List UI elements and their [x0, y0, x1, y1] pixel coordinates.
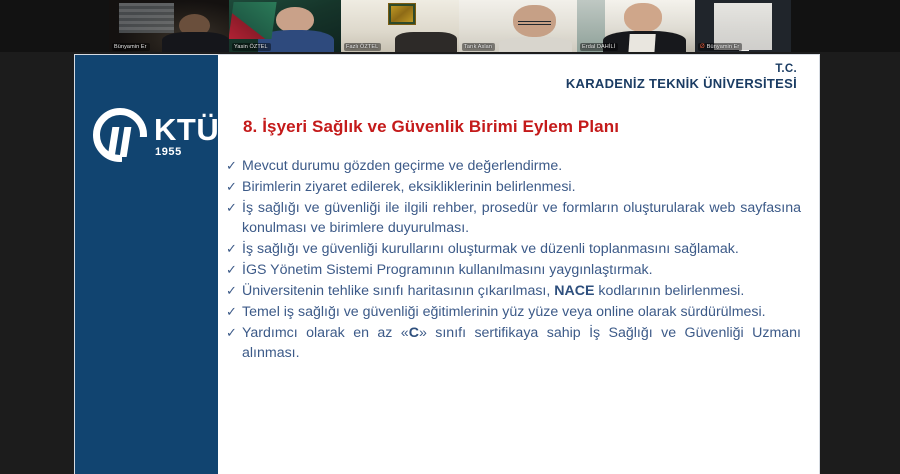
republic-label: T.C. — [566, 62, 797, 76]
participant-name-label: Fazlı ÖZTEL — [344, 43, 381, 51]
participant-name-text: Bünyamin Er — [707, 44, 740, 50]
video-tile[interactable]: Erdal DAHİLİ — [577, 0, 695, 52]
bullet-text: Birimlerin ziyaret edilerek, eksiklikler… — [242, 177, 811, 197]
participant-name-text: Erdal DAHİLİ — [582, 44, 615, 50]
ktu-wordmark-text: KTÜ — [154, 114, 219, 145]
bullet-item: ✓Üniversitenin tehlike sınıfı haritasını… — [225, 281, 811, 301]
ktu-founding-year: 1955 — [155, 146, 182, 158]
video-tile[interactable]: ØBünyamin Er — [695, 0, 791, 52]
participant-name-text: Bünyamin Er — [114, 44, 147, 50]
bullet-text: İş sağlığı ve güvenliği kurullarını oluş… — [242, 239, 811, 259]
participant-name-label: Bünyamin Er — [112, 43, 150, 51]
participant-name-text: Tarık Aslan — [464, 44, 492, 50]
checkmark-icon: ✓ — [225, 323, 242, 343]
ktu-emblem-icon — [93, 108, 147, 162]
video-tile[interactable]: Tarık Aslan — [459, 0, 577, 52]
ktu-wordmark: KTÜ 1955 — [154, 112, 219, 158]
checkmark-icon: ✓ — [225, 239, 242, 259]
video-tile[interactable]: Yasin ÖZTEL — [229, 0, 341, 52]
bullet-text: Yardımcı olarak en az «C» sınıfı sertifi… — [242, 323, 811, 363]
checkmark-icon: ✓ — [225, 177, 242, 197]
slide-title: 8. İşyeri Sağlık ve Güvenlik Birimi Eyle… — [243, 117, 619, 137]
bullet-text: İş sağlığı ve güvenliği ile ilgili rehbe… — [242, 198, 811, 238]
bullet-item: ✓Temel iş sağlığı ve güvenliği eğitimler… — [225, 302, 811, 322]
bullet-item: ✓İş sağlığı ve güvenliği kurullarını olu… — [225, 239, 811, 259]
screen-share-view: Bünyamin ErYasin ÖZTELFazlı ÖZTELTarık A… — [0, 0, 900, 474]
bullet-text: İGS Yönetim Sistemi Programının kullanıl… — [242, 260, 811, 280]
bullet-item: ✓Birimlerin ziyaret edilerek, eksiklikle… — [225, 177, 811, 197]
participant-name-text: Fazlı ÖZTEL — [346, 44, 378, 50]
bullet-item: ✓İGS Yönetim Sistemi Programının kullanı… — [225, 260, 811, 280]
participant-name-label: Tarık Aslan — [462, 43, 495, 51]
slide-sidebar: KTÜ 1955 — [75, 55, 218, 474]
checkmark-icon: ✓ — [225, 198, 242, 218]
participant-name-label: Erdal DAHİLİ — [580, 43, 618, 51]
microphone-muted-icon: Ø — [700, 44, 705, 50]
checkmark-icon: ✓ — [225, 260, 242, 280]
university-name: KARADENİZ TEKNİK ÜNİVERSİTESİ — [566, 76, 797, 92]
slide-header: T.C. KARADENİZ TEKNİK ÜNİVERSİTESİ — [566, 62, 797, 92]
presentation-slide: KTÜ 1955 T.C. KARADENİZ TEKNİK ÜNİVERSİT… — [75, 55, 819, 474]
bullet-text: Mevcut durumu gözden geçirme ve değerlen… — [242, 156, 811, 176]
bullet-list: ✓Mevcut durumu gözden geçirme ve değerle… — [225, 156, 811, 364]
bullet-item: ✓Yardımcı olarak en az «C» sınıfı sertif… — [225, 323, 811, 363]
slide-content-area: T.C. KARADENİZ TEKNİK ÜNİVERSİTESİ 8. İş… — [218, 55, 819, 474]
participant-name-label: Yasin ÖZTEL — [232, 43, 271, 51]
video-tile[interactable]: Bünyamin Er — [109, 0, 229, 52]
ktu-logo: KTÜ 1955 — [93, 108, 219, 162]
checkmark-icon: ✓ — [225, 281, 242, 301]
video-participant-strip: Bünyamin ErYasin ÖZTELFazlı ÖZTELTarık A… — [0, 0, 900, 52]
bullet-text: Temel iş sağlığı ve güvenliği eğitimleri… — [242, 302, 811, 322]
bullet-item: ✓İş sağlığı ve güvenliği ile ilgili rehb… — [225, 198, 811, 238]
bullet-item: ✓Mevcut durumu gözden geçirme ve değerle… — [225, 156, 811, 176]
bullet-text: Üniversitenin tehlike sınıfı haritasının… — [242, 281, 811, 301]
checkmark-icon: ✓ — [225, 156, 242, 176]
video-tile[interactable]: Fazlı ÖZTEL — [341, 0, 459, 52]
checkmark-icon: ✓ — [225, 302, 242, 322]
participant-name-label: ØBünyamin Er — [698, 43, 742, 51]
participant-name-text: Yasin ÖZTEL — [234, 44, 268, 50]
